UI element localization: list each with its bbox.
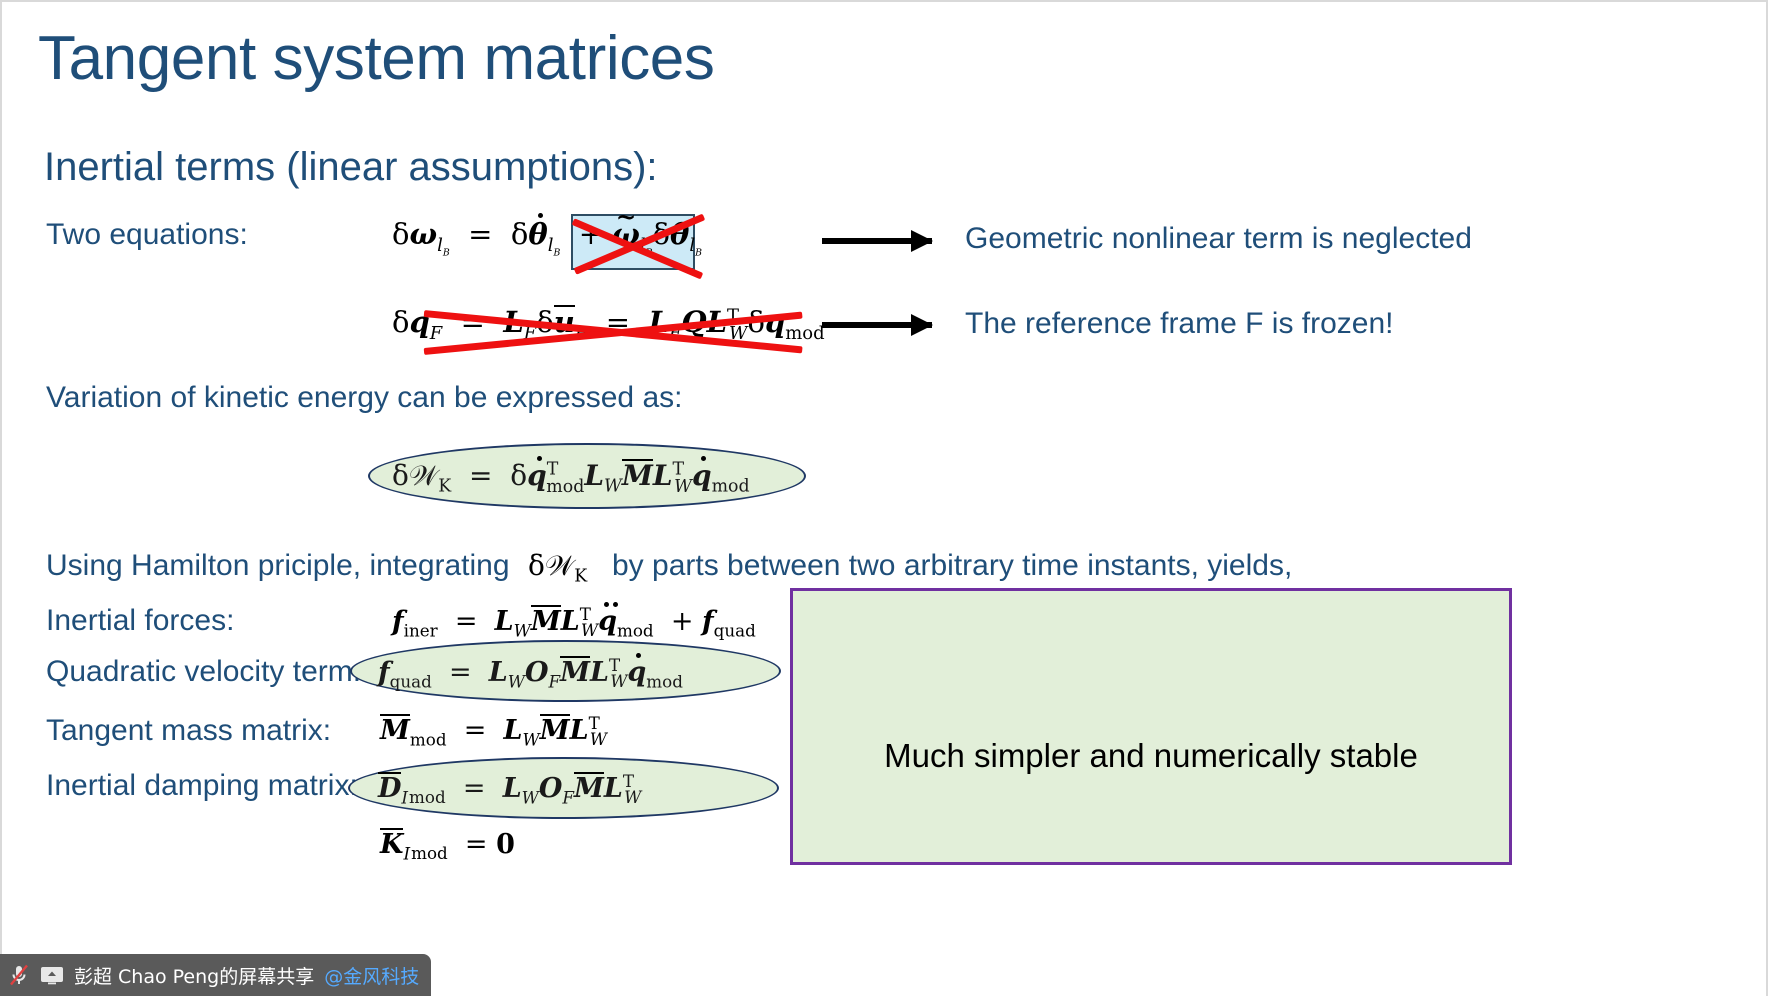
callout-text: Much simpler and numerically stable bbox=[793, 737, 1509, 775]
equation-kinetic-energy: δ𝒲K = δqTmodLWMLTWqmod bbox=[392, 459, 750, 490]
label-variation-kinetic-energy: Variation of kinetic energy can be expre… bbox=[46, 381, 682, 415]
label-inertial-forces: Inertial forces: bbox=[46, 604, 234, 638]
equation-inertial-stiffness-matrix: KImod = 0 bbox=[380, 828, 515, 858]
page-title: Tangent system matrices bbox=[38, 26, 715, 93]
slide-frame-top bbox=[0, 0, 1768, 2]
annotation-reference-frame: The reference frame F is frozen! bbox=[965, 307, 1394, 341]
annotation-geometric-nonlinear: Geometric nonlinear term is neglected bbox=[965, 222, 1472, 256]
label-hamilton-post: by parts between two arbitrary time inst… bbox=[612, 549, 1292, 583]
slide-canvas: Tangent system matrices Inertial terms (… bbox=[0, 0, 1768, 996]
label-tangent-mass-matrix: Tangent mass matrix: bbox=[46, 714, 331, 748]
section-subtitle: Inertial terms (linear assumptions): bbox=[44, 145, 658, 190]
label-quadratic-velocity: Quadratic velocity term: bbox=[46, 655, 361, 689]
inline-delta-wk: δ𝒲K bbox=[528, 552, 587, 580]
callout-box: Much simpler and numerically stable bbox=[790, 588, 1512, 865]
screen-share-bar[interactable]: 彭超 Chao Peng的屏幕共享 @金风科技 bbox=[0, 954, 431, 996]
arrow-reference-frame bbox=[822, 322, 932, 328]
share-org-text: @金风科技 bbox=[324, 962, 419, 989]
microphone-muted-icon[interactable] bbox=[8, 963, 30, 987]
share-owner-text: 彭超 Chao Peng的屏幕共享 bbox=[74, 962, 314, 989]
arrow-geometric bbox=[822, 238, 932, 244]
label-hamilton-pre: Using Hamilton priciple, integrating bbox=[46, 549, 510, 583]
equation-inertial-damping-matrix: DImod = LWOFMLTW bbox=[378, 772, 641, 802]
label-inertial-damping-matrix: Inertial damping matrix: bbox=[46, 769, 358, 803]
equation-quadratic-velocity: fquad = LWOFMLTWqmod bbox=[378, 656, 683, 686]
label-two-equations: Two equations: bbox=[46, 218, 248, 252]
screen-share-icon[interactable] bbox=[40, 965, 64, 985]
equation-tangent-mass-matrix: Mmod = LWMLTW bbox=[380, 714, 607, 744]
equation-inertial-forces: finer = LWMLTWqmod + fquad bbox=[392, 605, 756, 635]
slide-frame-left bbox=[0, 0, 2, 996]
